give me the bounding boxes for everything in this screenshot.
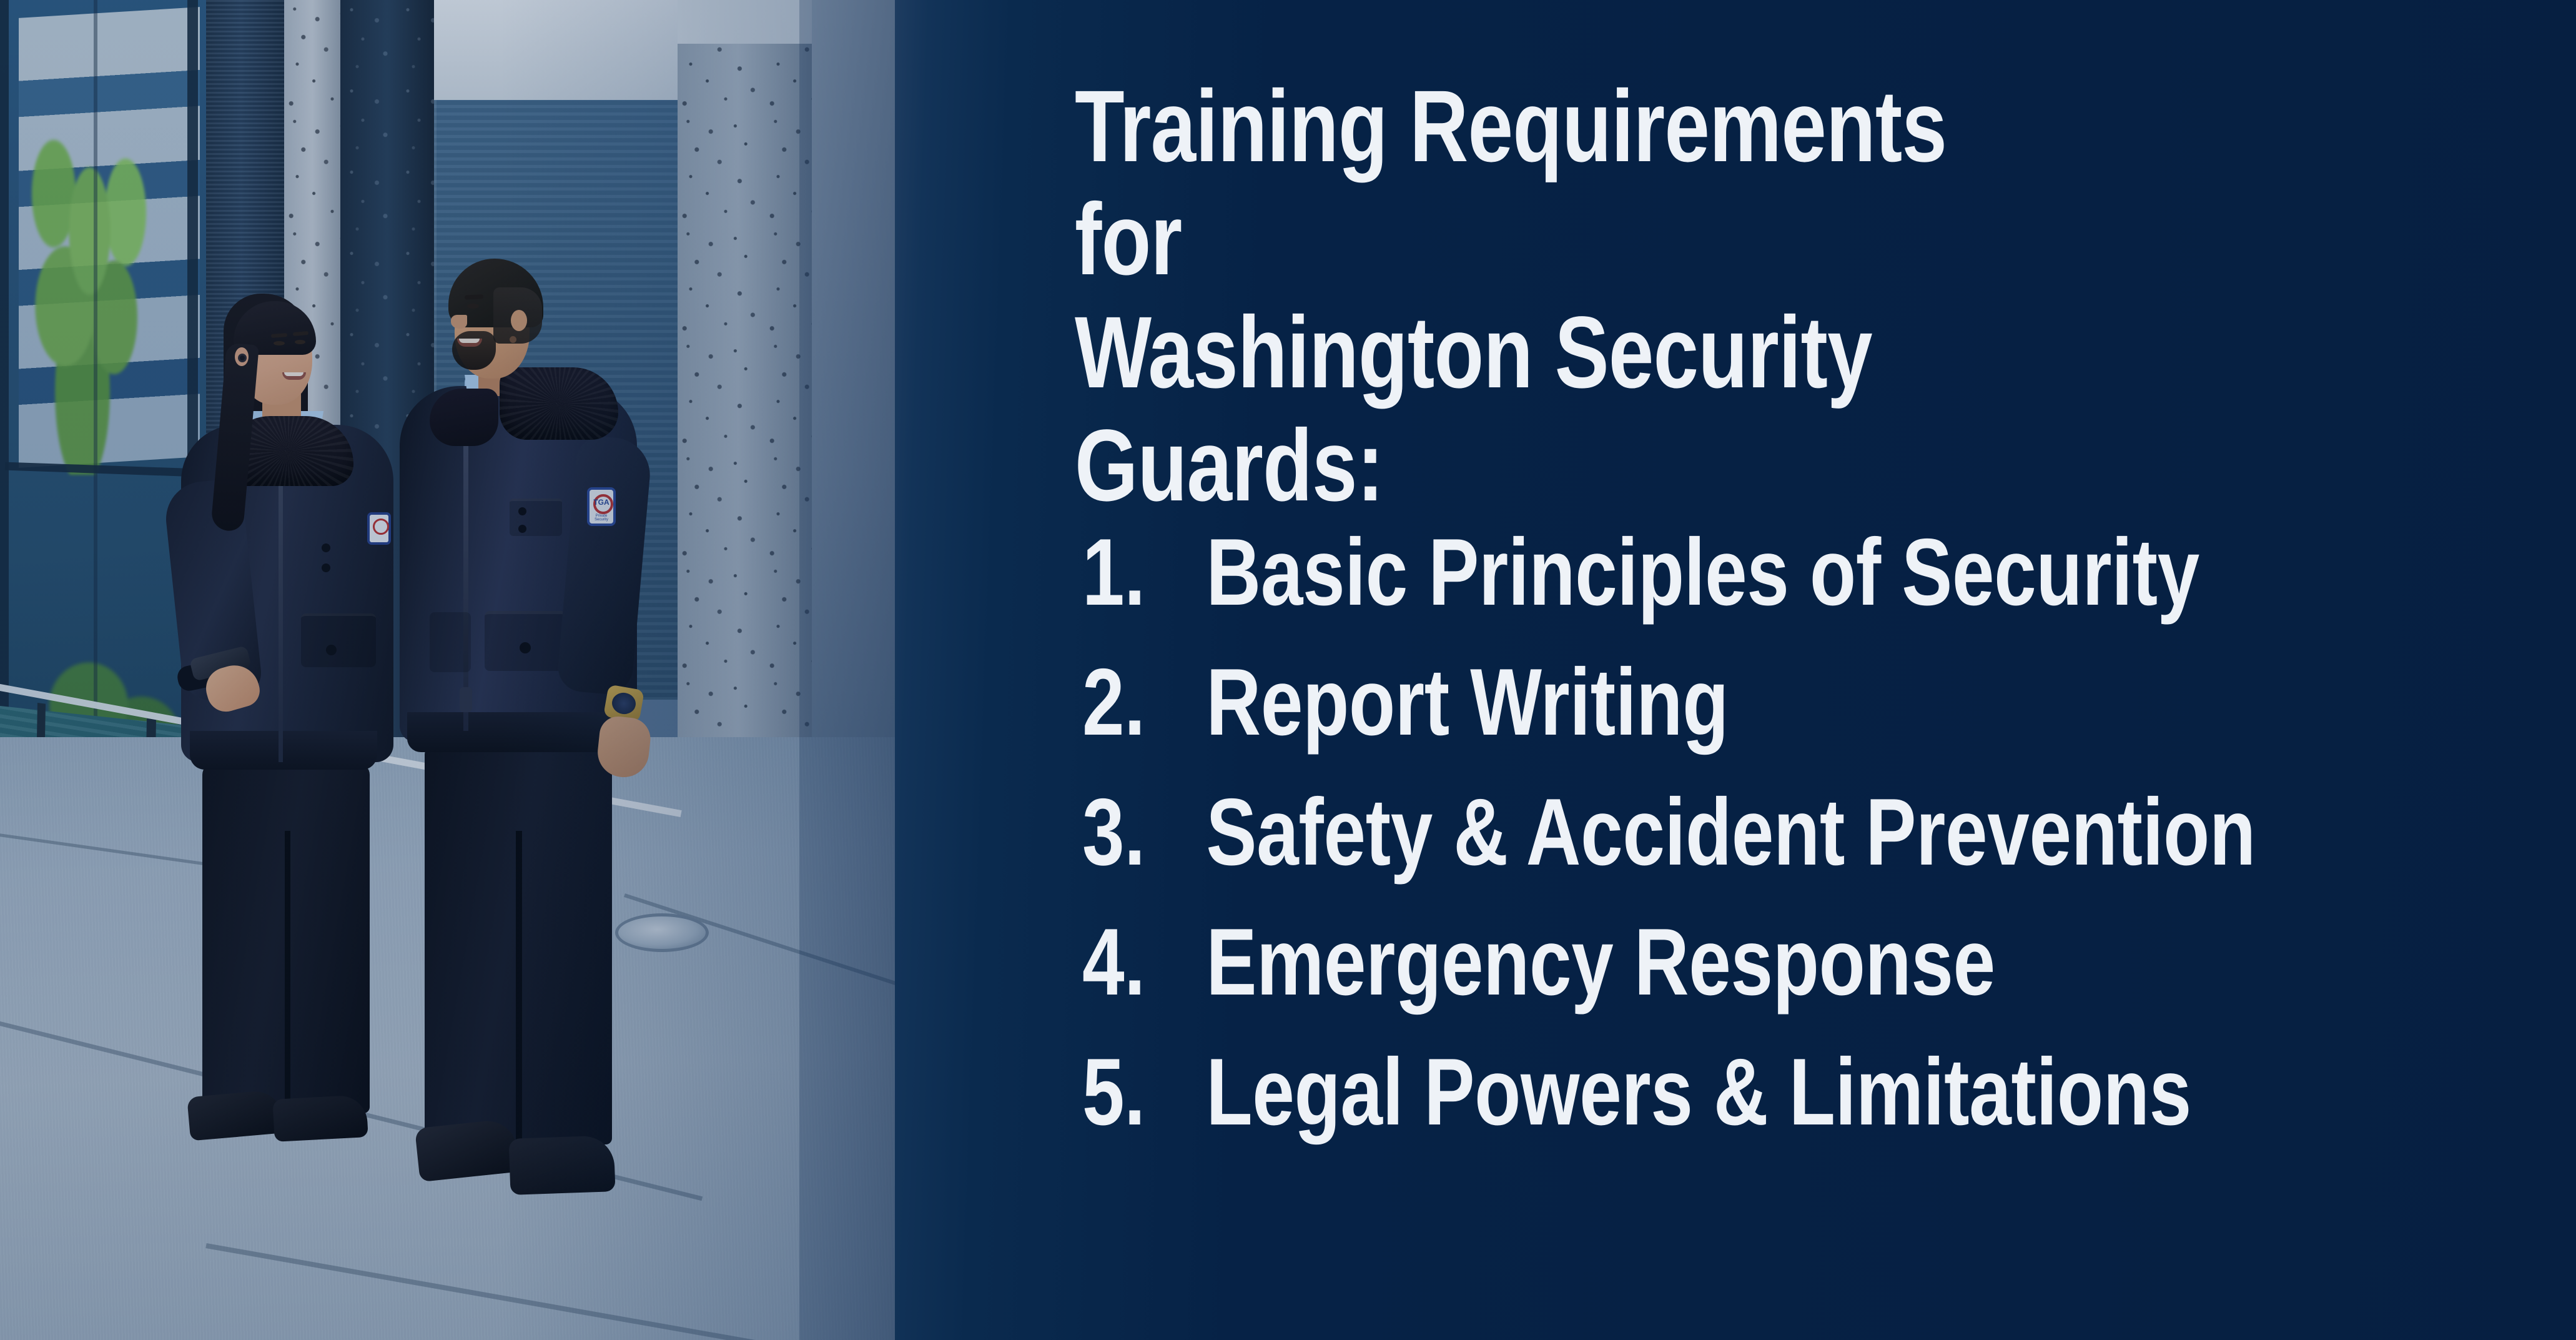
eye [467,304,479,309]
jacket-zipper [279,481,283,762]
trouser-seam [516,831,522,1149]
jacket-pocket [301,613,376,667]
eye [295,340,305,344]
window-mullion [0,0,9,825]
granite-pillar [678,0,812,825]
chest-pocket-button [518,507,526,515]
patch-sublabel: Private Security [590,514,613,522]
boot-right [272,1094,368,1142]
fur-collar [430,389,498,446]
boot-right [508,1135,615,1195]
list-item-number: 1. [1082,525,1206,620]
upper-wall-panel [434,0,678,100]
jacket-hem [407,712,626,752]
list-item: 1. Basic Principles of Security [1082,525,2281,655]
chest-pocket-button [322,563,330,572]
adjacent-building [812,0,895,781]
teeth [459,339,480,343]
page-title-line-1: Training Requirements for [1075,70,2074,296]
page-title-line-2: Washington Security Guards: [1075,296,2074,522]
boot-left [415,1118,520,1182]
patch-label: TGA [590,498,613,507]
list-item: 5. Legal Powers & Limitations [1082,1045,2281,1174]
list-item-label: Emergency Response [1206,915,2281,1010]
list-item-label: Safety & Accident Prevention [1206,785,2281,880]
pocket-button [326,645,337,655]
chest-pocket-button [518,525,526,533]
mole [510,336,516,343]
pocket-button [520,642,531,653]
guards-photo: TGA Private Security [0,0,895,1340]
nose [451,315,467,329]
teeth [284,372,303,376]
zipper-pull [460,687,472,712]
photo-scene: TGA Private Security [0,0,895,1340]
chest-pocket-button [322,543,330,552]
fur-collar [500,367,618,440]
content-panel: Training Requirements for Washington Sec… [895,0,2576,1340]
shoulder-patch [367,512,391,545]
goatee [452,331,496,370]
jacket-hem [190,731,377,770]
jacket-pocket [430,612,471,672]
list-item-label: Legal Powers & Limitations [1206,1045,2281,1139]
shoulder-patch: TGA Private Security [587,487,616,526]
list-item: 2. Report Writing [1082,655,2281,785]
security-guard-female [169,294,400,1231]
page-title: Training Requirements for Washington Sec… [1075,70,2074,522]
trouser-seam [285,831,290,1112]
boot-left [187,1089,284,1141]
list-item-label: Report Writing [1206,655,2281,750]
list-item-label: Basic Principles of Security [1206,525,2281,620]
list-item-number: 4. [1082,915,1206,1010]
ear [511,310,527,331]
ear-plug-earring [238,354,247,362]
list-item: 3. Safety & Accident Prevention [1082,785,2281,915]
list-item: 4. Emergency Response [1082,915,2281,1045]
chest-pocket-flap [510,499,562,536]
slide-root: TGA Private Security [0,0,2576,1340]
list-item-number: 5. [1082,1045,1206,1139]
training-requirements-list: 1. Basic Principles of Security 2. Repor… [1082,525,2576,1174]
list-item-number: 2. [1082,655,1206,750]
eye [274,341,285,345]
security-guard-male: TGA Private Security [400,250,649,1237]
list-item-number: 3. [1082,785,1206,880]
jacket-pocket [485,611,566,671]
